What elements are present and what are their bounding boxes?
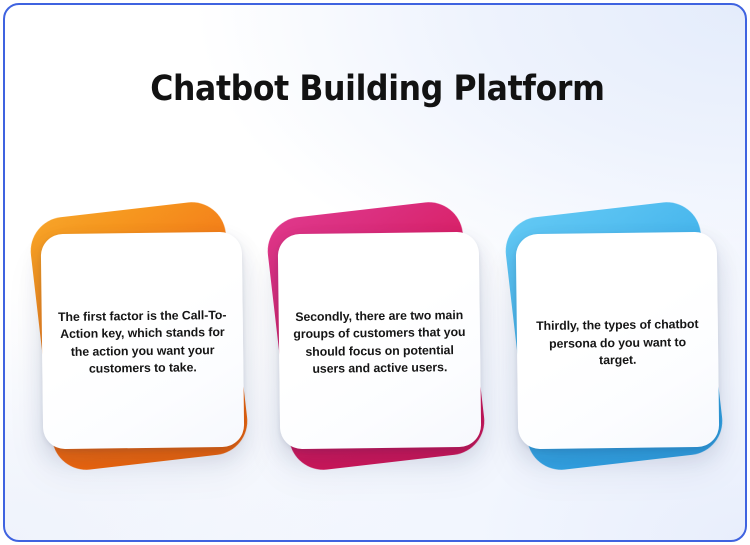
card-text: Secondly, there are two main groups of c… <box>293 307 467 379</box>
card-panel: Thirdly, the types of chatbot persona do… <box>516 232 720 449</box>
cards-row: The first factor is the Call-To-Action k… <box>5 5 747 542</box>
info-card-customer-groups[interactable]: Secondly, there are two main groups of c… <box>264 203 489 473</box>
info-card-cta[interactable]: The first factor is the Call-To-Action k… <box>27 203 252 473</box>
card-panel: Secondly, there are two main groups of c… <box>278 232 482 449</box>
slide-frame: Chatbot Building Platform The first fact… <box>3 3 747 542</box>
slide-canvas: Chatbot Building Platform The first fact… <box>0 0 750 545</box>
card-text: Thirdly, the types of chatbot persona do… <box>531 316 705 370</box>
info-card-persona[interactable]: Thirdly, the types of chatbot persona do… <box>502 203 727 473</box>
card-panel: The first factor is the Call-To-Action k… <box>41 232 245 449</box>
card-text: The first factor is the Call-To-Action k… <box>56 307 230 379</box>
